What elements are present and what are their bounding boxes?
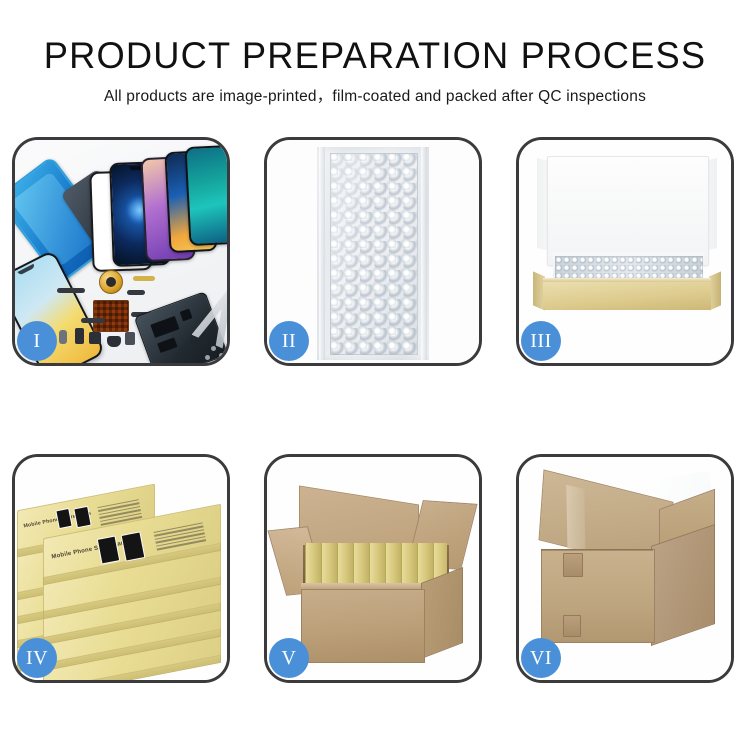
step-badge-3: III	[521, 321, 561, 361]
step-badge-6: VI	[521, 638, 561, 678]
teal-wave-screen-icon	[184, 145, 227, 246]
flex-cable-icon	[81, 318, 105, 323]
step-badge-2: II	[269, 321, 309, 361]
step-badge-1: I	[17, 321, 57, 361]
step-panel-2[interactable]: II	[264, 137, 482, 366]
step-panel-6[interactable]: VI	[516, 454, 734, 683]
sim-tray-icon	[59, 330, 67, 344]
screw-icon	[205, 355, 210, 360]
box-lid-icon	[547, 156, 709, 266]
box-front-panel-icon	[543, 280, 711, 310]
step-panel-3[interactable]: III	[516, 137, 734, 366]
screw-icon	[211, 346, 216, 351]
header: PRODUCT PREPARATION PROCESS All products…	[0, 34, 750, 107]
phone-notch-icon	[17, 264, 35, 276]
sim-tray-icon	[125, 332, 135, 345]
process-steps-grid: I II	[12, 137, 738, 683]
copper-mesh-shield-icon	[93, 300, 129, 332]
carton-front-panel-icon	[541, 549, 655, 643]
step-panel-1[interactable]: I	[12, 137, 230, 366]
logic-board-icon	[134, 291, 227, 363]
step-badge-5: V	[269, 638, 309, 678]
bubble-texture-icon	[330, 153, 418, 355]
step-panel-4[interactable]: Mobile Phone Spare Parts Mobile P	[12, 454, 230, 683]
flex-cable-icon	[133, 276, 155, 281]
carton-flap-tab-icon	[563, 615, 581, 637]
flex-cable-icon	[57, 288, 85, 293]
product-preparation-infographic: PRODUCT PREPARATION PROCESS All products…	[0, 0, 750, 750]
carton-seam-icon	[541, 549, 653, 551]
pouch-seam-icon	[421, 147, 427, 360]
speaker-mesh-icon	[107, 336, 121, 347]
box-rim-icon	[543, 278, 711, 282]
screw-icon	[219, 353, 224, 358]
speaker-module-icon	[99, 270, 123, 294]
step-panel-5[interactable]: V	[264, 454, 482, 683]
small-part-icon	[75, 328, 84, 344]
carton-front-panel-icon	[301, 589, 425, 663]
carton-side-panel-icon	[421, 567, 463, 659]
small-part-icon	[89, 332, 101, 344]
bubble-wrap-pouch-icon	[317, 147, 429, 360]
carton-flap-tab-icon	[563, 553, 583, 577]
page-title: PRODUCT PREPARATION PROCESS	[8, 34, 743, 78]
page-subtitle: All products are image-printed，film-coat…	[0, 87, 750, 107]
step-badge-4: IV	[17, 638, 57, 678]
pouch-seam-icon	[319, 147, 325, 360]
carton-side-panel-icon	[651, 524, 715, 646]
flex-cable-icon	[127, 290, 145, 295]
